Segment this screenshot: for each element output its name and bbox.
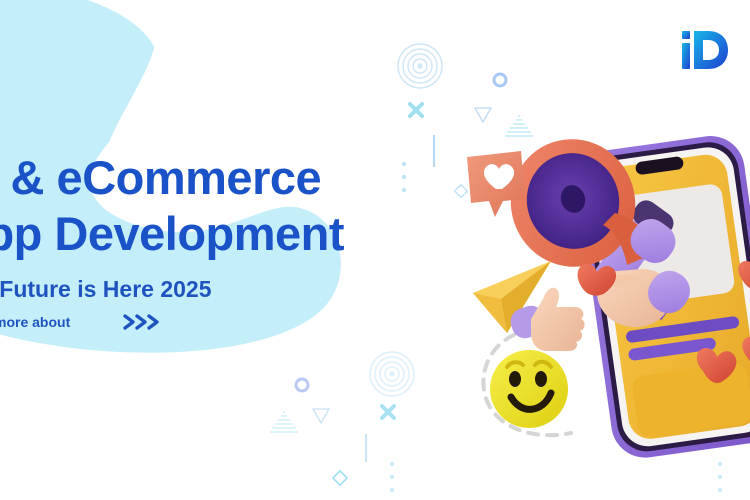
hero-copy: AI & eCommerce App Development The Futur…: [0, 150, 512, 331]
ring-icon: [294, 377, 310, 393]
vertical-line-icon: [364, 434, 368, 462]
page-title: AI & eCommerce App Development: [0, 150, 512, 262]
headline-line-1: AI & eCommerce: [0, 151, 321, 204]
triple-chevron-right-icon[interactable]: [122, 313, 162, 331]
dots-icon: [716, 460, 724, 494]
cta-label: Learn more about: [0, 314, 70, 330]
dots-icon: [388, 460, 396, 494]
headline-line-2: App Development: [0, 206, 512, 262]
diamond-icon: [330, 468, 350, 488]
ring-icon: [492, 72, 508, 88]
striped-triangle-icon: [268, 410, 300, 434]
cross-icon: [378, 402, 398, 422]
triangle-outline-icon: [312, 408, 330, 424]
cta-row[interactable]: Learn more about: [0, 313, 512, 331]
logo-id[interactable]: [678, 26, 732, 74]
marketing-banner: AI & eCommerce App Development The Futur…: [0, 0, 750, 500]
smiley-face: [490, 350, 568, 428]
subheadline: The Future is Here 2025: [0, 276, 512, 303]
